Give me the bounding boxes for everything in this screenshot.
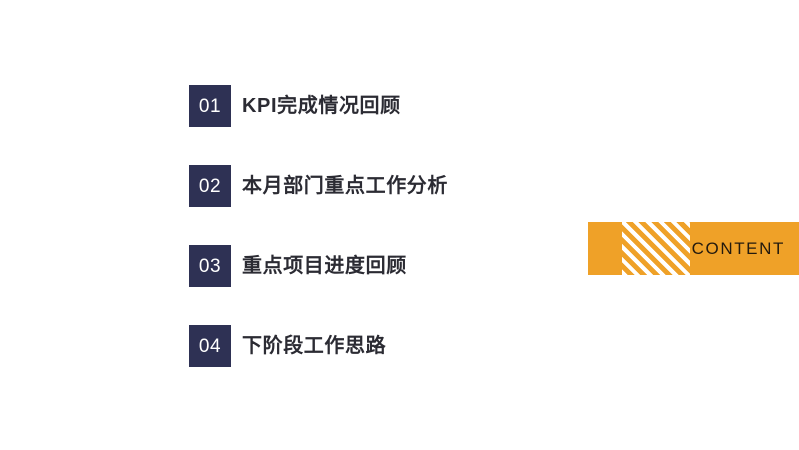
agenda-number-label: 04: [199, 337, 221, 356]
agenda-number-box: 02: [189, 165, 231, 207]
agenda-number-box: 04: [189, 325, 231, 367]
agenda-item-03[interactable]: 03 重点项目进度回顾: [189, 245, 569, 287]
agenda-number-box: 01: [189, 85, 231, 127]
agenda-item-01[interactable]: 01 KPI完成情况回顾: [189, 85, 569, 127]
agenda-number-label: 01: [199, 97, 221, 116]
agenda-item-04[interactable]: 04 下阶段工作思路: [189, 325, 569, 367]
content-banner-label: CONTENT: [692, 222, 785, 275]
content-banner: CONTENT: [588, 222, 799, 275]
agenda-number-label: 03: [199, 257, 221, 276]
agenda-item-title: 下阶段工作思路: [242, 335, 386, 357]
agenda-number-label: 02: [199, 177, 221, 196]
slide-canvas: 01 KPI完成情况回顾 02 本月部门重点工作分析 03 重点项目进度回顾 0…: [0, 0, 799, 450]
agenda-number-box: 03: [189, 245, 231, 287]
agenda-list: 01 KPI完成情况回顾 02 本月部门重点工作分析 03 重点项目进度回顾 0…: [189, 85, 569, 367]
agenda-item-02[interactable]: 02 本月部门重点工作分析: [189, 165, 569, 207]
diagonal-stripes-icon: [622, 222, 690, 275]
agenda-item-title: KPI完成情况回顾: [242, 95, 401, 117]
agenda-item-title: 本月部门重点工作分析: [242, 175, 448, 197]
agenda-item-title: 重点项目进度回顾: [242, 255, 407, 277]
